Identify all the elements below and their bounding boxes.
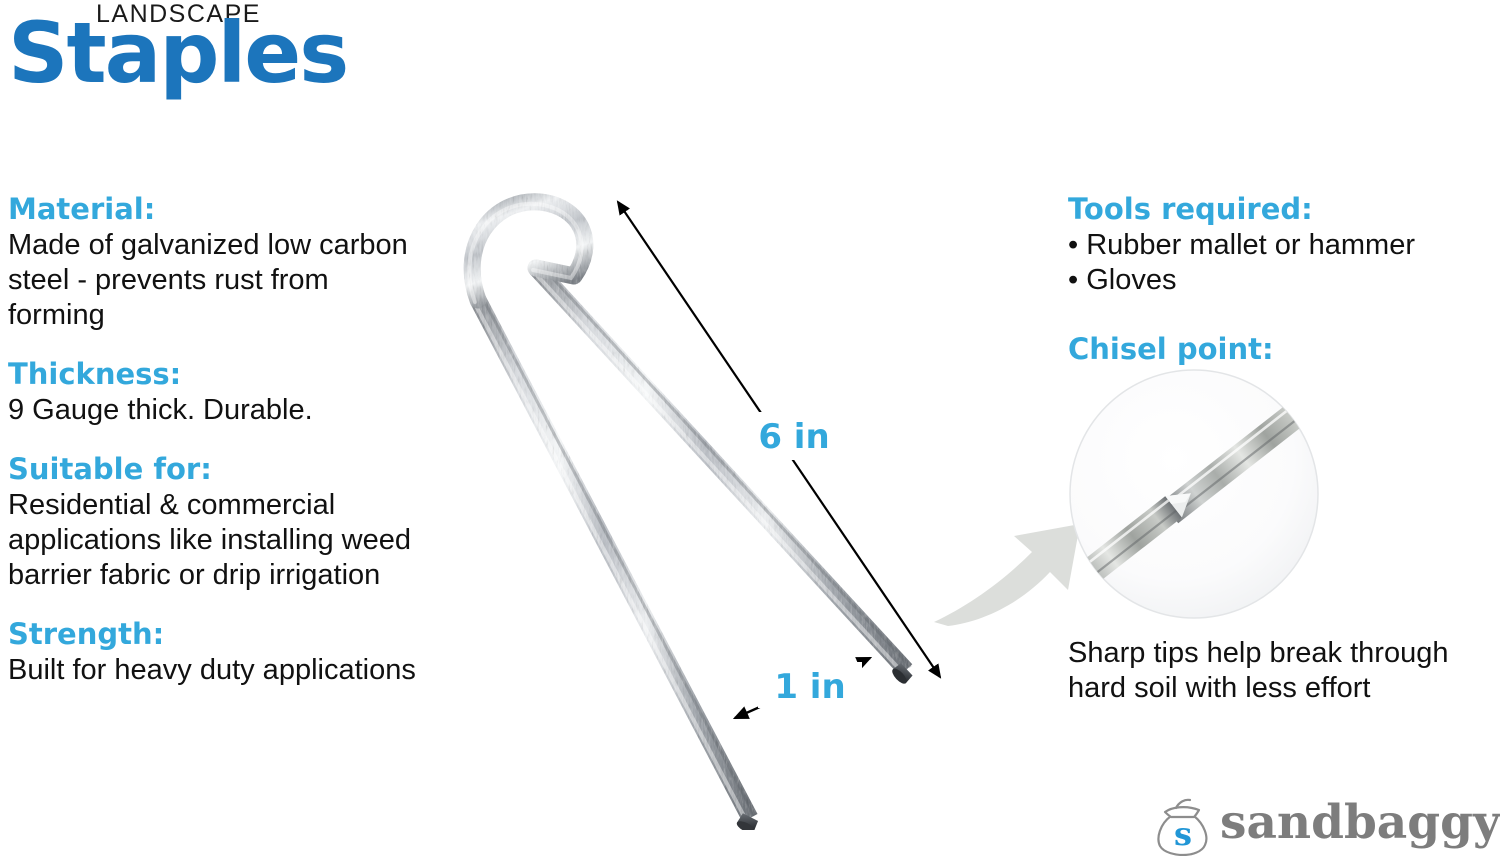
spec-thickness-heading: Thickness: — [8, 357, 428, 392]
dimension-width-1in: 1 in — [735, 658, 870, 718]
sandbag-icon: s — [1152, 796, 1214, 856]
spec-suitable-for: Suitable for: Residential & commercial a… — [8, 452, 428, 593]
spec-material-heading: Material: — [8, 192, 428, 227]
chisel-point-caption: Sharp tips help break through hard soil … — [1068, 636, 1500, 706]
spec-chisel-heading: Chisel point: — [1068, 332, 1500, 367]
spec-thickness-body: 9 Gauge thick. Durable. — [8, 393, 428, 428]
spec-strength-heading: Strength: — [8, 617, 428, 652]
spec-suitable-heading: Suitable for: — [8, 452, 428, 487]
page-title: LANDSCAPE Staples — [8, 2, 428, 112]
spec-suitable-body: Residential & commercial applications li… — [8, 488, 428, 593]
spec-tools-required: Tools required: • Rubber mallet or hamme… — [1068, 192, 1500, 298]
spec-material-body: Made of galvanized low carbon steel - pr… — [8, 228, 428, 333]
dimension-length-label: 6 in — [758, 417, 829, 457]
staple-body — [469, 202, 913, 830]
staple-bend — [469, 202, 585, 302]
chisel-detail-circle — [1068, 368, 1320, 620]
specs-left-column: Material: Made of galvanized low carbon … — [8, 192, 428, 688]
callout-arrow-shape — [934, 524, 1080, 626]
spec-strength-body: Built for heavy duty applications — [8, 653, 428, 688]
sandbaggy-logo: s sandbaggy — [1152, 794, 1492, 856]
spec-tools-heading: Tools required: — [1068, 192, 1500, 227]
spec-chisel-point: Chisel point: — [1068, 332, 1500, 367]
dimension-width-label: 1 in — [774, 667, 845, 707]
specs-right-column: Tools required: • Rubber mallet or hamme… — [1068, 192, 1500, 368]
brand-wordmark: sandbaggy — [1220, 798, 1500, 848]
spec-thickness: Thickness: 9 Gauge thick. Durable. — [8, 357, 428, 428]
dimension-length-6in: 6 in — [618, 202, 940, 677]
spec-tools-item: • Rubber mallet or hammer — [1068, 228, 1500, 263]
spec-material: Material: Made of galvanized low carbon … — [8, 192, 428, 333]
bag-letter: s — [1174, 815, 1192, 853]
staple-tip-left — [735, 813, 759, 830]
title-main: Staples — [8, 11, 347, 95]
spec-strength: Strength: Built for heavy duty applicati… — [8, 617, 428, 688]
staple-left-leg — [474, 298, 755, 821]
spec-tools-item: • Gloves — [1068, 263, 1500, 298]
staple-right-leg — [533, 265, 911, 673]
